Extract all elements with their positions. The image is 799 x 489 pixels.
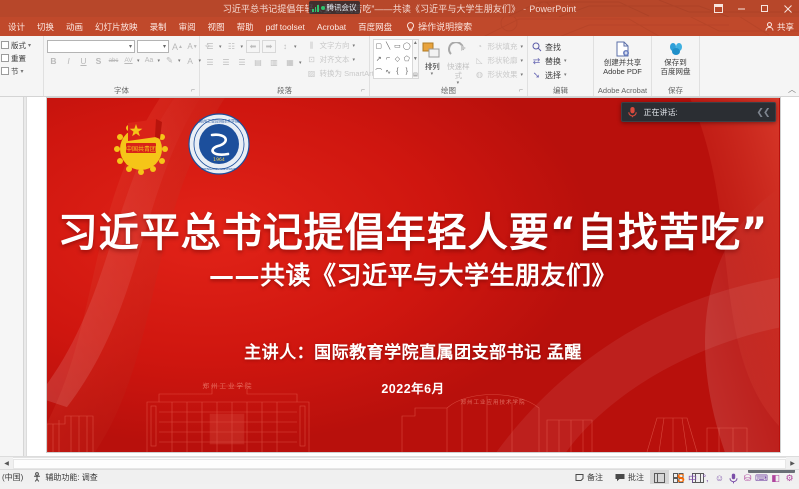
horizontal-scrollbar[interactable]: ◀ ▶ xyxy=(0,456,799,469)
chevron-down-icon[interactable]: ▾ xyxy=(178,58,182,64)
slide-date[interactable]: 2022年6月 xyxy=(47,378,780,397)
decrease-font-size-icon[interactable]: A▼ xyxy=(186,40,199,53)
font-dialog-launcher[interactable]: ⌐ xyxy=(191,86,195,96)
scroll-up-icon[interactable]: ▲ xyxy=(413,40,418,46)
baidu-netdisk-icon xyxy=(668,40,684,58)
slide-title[interactable]: 习近平总书记提倡年轻人要“自找苦吃” xyxy=(47,200,780,258)
ime-keyboard-icon[interactable]: ⌨ xyxy=(756,473,767,484)
line-spacing-icon[interactable]: ↕ xyxy=(278,40,292,53)
svg-text:ZHENGZHOU UNIVERSITY: ZHENGZHOU UNIVERSITY xyxy=(201,167,237,171)
font-name-combo[interactable]: ▾ xyxy=(47,40,135,53)
minimize-icon[interactable] xyxy=(730,0,753,17)
meeting-indicator-label: 腾讯会议 xyxy=(327,2,357,13)
shape-effects-button[interactable]: ◍ 形状效果 ▾ xyxy=(474,68,524,81)
window-controls xyxy=(707,0,799,17)
speaking-status-label: 正在讲话: xyxy=(644,107,678,118)
scroll-down-icon[interactable]: ▼ xyxy=(413,56,418,62)
select-button[interactable]: ➘ 选择 ▾ xyxy=(531,69,568,81)
shape-pentagon-icon[interactable]: ⬠ xyxy=(402,53,411,66)
font-group-label: 字体 ⌐ xyxy=(47,86,196,96)
slide-logos: 中国共青团 1964 郑州工业应用技术学院 xyxy=(112,113,250,175)
shape-effects-label: 形状效果 xyxy=(487,69,517,80)
slides-group-label xyxy=(0,86,40,96)
collapse-ribbon-icon[interactable]: ︿ xyxy=(788,84,796,95)
scroll-left-icon[interactable]: ◀ xyxy=(0,457,13,470)
window-title: 习近平总书记提倡年轻人要“自找苦吃”——共读《习近平与大学生朋友们》-Power… xyxy=(223,2,577,15)
save-to-baidu-button[interactable]: 保存到 百度网盘 xyxy=(655,38,696,76)
align-text-label: 对齐文本 xyxy=(320,54,350,65)
shape-elbow-icon[interactable]: ⌐ xyxy=(383,53,392,66)
smartart-icon: ▨ xyxy=(307,69,317,79)
find-label: 查找 xyxy=(545,42,561,53)
accessibility-icon xyxy=(32,472,42,482)
ime-emoji-icon[interactable]: ☺ xyxy=(714,473,725,484)
shape-fill-button[interactable]: ◔ 形状填充 ▾ xyxy=(474,40,524,53)
shape-fill-icon: ◔ xyxy=(474,42,484,52)
increase-indent-icon[interactable]: ➡ xyxy=(262,40,276,53)
section-button[interactable]: 节 ▾ xyxy=(0,65,40,77)
slide-canvas[interactable]: 中国共青团 1964 郑州工业应用技术学院 xyxy=(46,97,781,453)
search-icon xyxy=(531,42,542,53)
tencent-meeting-title-indicator[interactable]: 腾讯会议 xyxy=(309,1,360,14)
underline-icon[interactable]: U xyxy=(77,54,90,67)
sogou-ime-toolbar[interactable]: S 中 °, ☺ ⛁ ⌨ ◧ ⚙ 1 个新通知 xyxy=(675,471,797,484)
shape-outline-label: 形状轮廓 xyxy=(487,55,517,66)
ribbon-group-paragraph: ☰ ▾ ☷ ▾ ⬅ ➡ ↕ ▾ ☰ ☰ ☰ ▤ ▥ xyxy=(200,36,370,96)
tell-me-label: 操作说明搜索 xyxy=(418,20,472,33)
bold-icon[interactable]: B xyxy=(47,54,60,67)
layout-button[interactable]: 版式 ▾ xyxy=(0,39,40,51)
tab-transitions[interactable]: 切换 xyxy=(31,17,60,36)
scroll-track[interactable] xyxy=(13,457,786,470)
text-direction-icon: ⫼ xyxy=(307,41,317,51)
notification-toast[interactable]: 1 个新通知 xyxy=(748,469,795,473)
shape-line-icon[interactable]: ╲ xyxy=(383,40,392,53)
shape-curve-icon[interactable]: ⌒ xyxy=(374,65,383,78)
close-icon[interactable] xyxy=(776,0,799,17)
bullets-icon[interactable]: ☰ xyxy=(203,40,217,53)
paragraph-group-label: 段落 ⌐ xyxy=(203,86,366,96)
columns-icon[interactable]: ▥ xyxy=(267,56,281,69)
quick-styles-icon xyxy=(448,40,468,62)
arrange-label: 排列 xyxy=(425,62,440,71)
ribbon-group-font: ▾ ▾ A▲ A▼ ✧ B I U S abc AV ▾ xyxy=(44,36,200,96)
signal-bars-icon xyxy=(312,4,319,12)
pdf-share-icon xyxy=(615,40,630,58)
baidu-group-label: 保存 xyxy=(655,86,696,96)
select-label: 选择 xyxy=(545,70,561,81)
powerpoint-window: 习近平总书记提倡年轻人要“自找苦吃”——共读《习近平与大学生朋友们》-Power… xyxy=(0,0,799,489)
tab-view[interactable]: 视图 xyxy=(202,17,231,36)
tell-me-search[interactable]: 操作说明搜索 xyxy=(398,20,472,33)
replace-button[interactable]: ⇄ 替换 ▾ xyxy=(531,55,568,67)
shapes-gallery-scrollbar[interactable]: ▲ ▼ ▤ xyxy=(413,39,420,79)
chevron-down-icon[interactable]: ▾ xyxy=(137,58,141,64)
save-to-baidu-label-1: 保存到 xyxy=(664,58,687,67)
tab-help[interactable]: 帮助 xyxy=(231,17,260,36)
ribbon-group-editing: 查找 ⇄ 替换 ▾ ➘ 选择 ▾ 编辑 xyxy=(528,36,594,96)
svg-text:1964: 1964 xyxy=(213,157,225,163)
save-to-baidu-label-2: 百度网盘 xyxy=(661,67,691,76)
title-bar: 习近平总书记提倡年轻人要“自找苦吃”——共读《习近平与大学生朋友们》-Power… xyxy=(0,0,799,17)
chevron-down-icon[interactable]: ▾ xyxy=(294,44,298,50)
create-share-pdf-label-2: Adobe PDF xyxy=(603,67,642,76)
ime-settings-icon[interactable]: ⚙ xyxy=(784,473,795,484)
shape-oval-icon[interactable]: ◯ xyxy=(402,40,411,53)
decrease-indent-icon[interactable]: ⬅ xyxy=(246,40,260,53)
work-area: 中国共青团 1964 郑州工业应用技术学院 xyxy=(0,97,799,456)
shape-brace-right-icon[interactable]: } xyxy=(402,65,411,78)
section-icon xyxy=(1,67,9,75)
align-text-icon: ⊡ xyxy=(307,55,317,65)
arrange-button[interactable]: 排列 ▾ xyxy=(419,38,445,77)
status-bar: (中国) 辅助功能: 调查 备注 批注 xyxy=(0,469,799,484)
shape-outline-icon: ◺ xyxy=(474,56,484,66)
slide-thumbnail-pane[interactable] xyxy=(0,97,27,456)
justify-icon[interactable]: ▤ xyxy=(251,56,265,69)
layout-icon xyxy=(1,41,9,49)
app-name: PowerPoint xyxy=(529,4,576,14)
chevron-down-icon: ▾ xyxy=(28,42,31,49)
chevron-down-icon: ▾ xyxy=(128,43,133,50)
language-status[interactable]: (中国) xyxy=(2,472,23,483)
chevron-left-double-icon[interactable]: ❮❮ xyxy=(756,107,769,118)
cursor-icon: ➘ xyxy=(531,70,542,81)
chevron-down-icon: ▾ xyxy=(21,68,24,75)
chevron-down-icon: ▾ xyxy=(353,57,357,63)
editing-group-label: 编辑 xyxy=(531,86,590,96)
smartart-label: 转换为 SmartArt xyxy=(320,68,374,79)
ribbon-display-options-icon[interactable] xyxy=(707,0,730,17)
chevron-down-icon: ▾ xyxy=(431,71,435,77)
align-left-icon[interactable]: ☰ xyxy=(203,56,217,69)
ime-punctuation-icon[interactable]: °, xyxy=(700,473,711,484)
text-highlight-icon[interactable]: ✎ xyxy=(163,54,176,67)
scroll-right-icon[interactable]: ▶ xyxy=(786,457,799,470)
chevron-down-icon[interactable]: ▾ xyxy=(241,44,245,50)
align-right-icon[interactable]: ☰ xyxy=(235,56,249,69)
microphone-icon[interactable] xyxy=(627,106,639,118)
ribbon-group-baidu: 保存到 百度网盘 保存 xyxy=(652,36,700,96)
increase-font-size-icon[interactable]: A▲ xyxy=(171,40,184,53)
status-dot-icon xyxy=(321,6,325,10)
font-size-combo[interactable]: ▾ xyxy=(137,40,169,53)
character-spacing-icon[interactable]: AV xyxy=(122,54,135,67)
ribbon-group-slides: 版式 ▾ 重置 节 ▾ xyxy=(0,36,44,96)
arrange-icon xyxy=(422,40,442,62)
chevron-down-icon: ▾ xyxy=(564,72,568,78)
notes-icon xyxy=(575,473,584,482)
numbering-icon[interactable]: ☷ xyxy=(225,40,239,53)
paragraph-dialog-launcher[interactable]: ⌐ xyxy=(361,86,365,96)
tab-acrobat[interactable]: Acrobat xyxy=(311,17,352,36)
tencent-meeting-floating-toolbar[interactable]: 正在讲话: ❮❮ xyxy=(621,102,776,122)
ribbon-group-drawing: ▢ ╲ ▭ ◯ ↗ ⌐ ◇ ⬠ ⌒ ∿ { } ▲ ▼ ▤ xyxy=(370,36,528,96)
text-direction-small-icon[interactable]: ▦ xyxy=(283,56,297,69)
notes-button[interactable]: 备注 xyxy=(569,470,609,484)
tab-pdf-toolset[interactable]: pdf toolset xyxy=(260,17,311,36)
shape-outline-button[interactable]: ◺ 形状轮廓 ▾ xyxy=(474,54,524,67)
shapes-gallery[interactable]: ▢ ╲ ▭ ◯ ↗ ⌐ ◇ ⬠ ⌒ ∿ { } xyxy=(373,39,413,79)
share-label: 共享 xyxy=(777,21,794,33)
slide-editing-area[interactable]: 中国共青团 1964 郑州工业应用技术学院 xyxy=(27,97,799,456)
slide-subtitle[interactable]: ——共读《习近平与大学生朋友们》 xyxy=(47,256,780,292)
tab-slideshow[interactable]: 幻灯片放映 xyxy=(89,17,144,36)
chevron-down-icon: ▾ xyxy=(162,43,167,50)
text-direction-label: 文字方向 xyxy=(320,40,350,51)
chevron-down-icon: ▾ xyxy=(520,58,524,64)
chevron-down-icon[interactable]: ▾ xyxy=(219,44,223,50)
quick-styles-button[interactable]: 快速样式 ▾ xyxy=(445,38,471,86)
communist-youth-league-emblem: 中国共青团 xyxy=(112,113,174,175)
tab-baidu-netdisk[interactable]: 百度网盘 xyxy=(352,17,398,36)
shape-brace-left-icon[interactable]: { xyxy=(393,65,402,78)
strikethrough-icon[interactable]: abc xyxy=(107,54,120,67)
create-share-pdf-label-1: 创建并共享 xyxy=(604,58,642,67)
pane-splitter[interactable] xyxy=(23,97,26,456)
chevron-down-icon[interactable]: ▾ xyxy=(299,60,303,66)
chevron-down-icon: ▾ xyxy=(520,72,524,78)
tab-design[interactable]: 设计 xyxy=(2,17,31,36)
window-title-text: 习近平总书记提倡年轻人要“自找苦吃”——共读《习近平与大学生朋友们》 xyxy=(223,4,520,14)
comment-bubble-icon xyxy=(615,473,625,482)
italic-icon[interactable]: I xyxy=(62,54,75,67)
ime-toolbox-icon[interactable]: ⛁ xyxy=(742,473,753,484)
text-shadow-icon[interactable]: S xyxy=(92,54,105,67)
layout-label: 版式 xyxy=(11,40,26,51)
sogou-logo-icon[interactable]: S xyxy=(677,472,685,485)
ime-voice-input-icon[interactable] xyxy=(728,473,739,484)
tab-recording[interactable]: 录制 xyxy=(144,17,173,36)
ribbon-tab-bar: 设计 切换 动画 幻灯片放映 录制 审阅 视图 帮助 pdf toolset A… xyxy=(0,17,799,36)
person-icon xyxy=(765,22,774,31)
university-seal-logo: 1964 郑州工业应用技术学院 ZHENGZHOU UNIVERSITY xyxy=(188,113,250,175)
lightbulb-icon xyxy=(406,22,415,32)
svg-text:中国共青团: 中国共青团 xyxy=(125,145,155,153)
replace-label: 替换 xyxy=(545,56,561,67)
shape-effects-icon: ◍ xyxy=(474,70,484,80)
drawing-group-label: 绘图 ⌐ xyxy=(373,86,524,96)
shape-freeform-icon[interactable]: ∿ xyxy=(383,65,392,78)
reset-button[interactable]: 重置 xyxy=(0,52,40,64)
restore-icon[interactable] xyxy=(753,0,776,17)
gallery-more-icon[interactable]: ▤ xyxy=(413,72,418,78)
scroll-thumb[interactable] xyxy=(13,459,786,469)
accessibility-status[interactable]: 辅助功能: 调查 xyxy=(32,472,97,483)
comments-label: 批注 xyxy=(628,472,644,483)
ime-mode-chinese-icon[interactable]: 中 xyxy=(688,472,697,485)
svg-text:郑州工业应用技术学院: 郑州工业应用技术学院 xyxy=(199,118,239,124)
ime-skin-icon[interactable]: ◧ xyxy=(770,473,781,484)
change-case-icon[interactable]: Aa xyxy=(143,54,156,67)
slide-speaker[interactable]: 主讲人：国际教育学院直属团支部书记 孟醒 xyxy=(47,338,780,363)
chevron-down-icon: ▾ xyxy=(520,44,524,50)
title-separator: - xyxy=(520,4,529,14)
quick-styles-label: 快速样式 xyxy=(445,62,471,80)
chevron-down-icon[interactable]: ▾ xyxy=(158,58,162,64)
shape-arrow-icon[interactable]: ↗ xyxy=(374,53,383,66)
reset-icon xyxy=(1,54,9,62)
find-button[interactable]: 查找 xyxy=(531,41,568,53)
share-button[interactable]: 共享 xyxy=(765,17,794,36)
ribbon: 版式 ▾ 重置 节 ▾ xyxy=(0,36,799,97)
shape-rect-icon[interactable]: ▭ xyxy=(393,40,402,53)
font-color-icon[interactable]: A xyxy=(184,54,197,67)
align-center-icon[interactable]: ☰ xyxy=(219,56,233,69)
accessibility-label: 辅助功能: 调查 xyxy=(45,472,97,483)
gate-name-text: 郑州工业应用技术学院 xyxy=(460,398,525,406)
reset-label: 重置 xyxy=(11,53,26,64)
shape-diamond-icon[interactable]: ◇ xyxy=(393,53,402,66)
shape-fill-label: 形状填充 xyxy=(487,41,517,52)
create-share-pdf-button[interactable]: 创建并共享 Adobe PDF xyxy=(597,38,648,76)
chevron-down-icon: ▾ xyxy=(564,58,568,64)
section-label: 节 xyxy=(11,66,19,77)
tab-review[interactable]: 审阅 xyxy=(173,17,202,36)
ribbon-group-acrobat: 创建并共享 Adobe PDF Adobe Acrobat xyxy=(594,36,652,96)
comments-button[interactable]: 批注 xyxy=(609,470,650,484)
drawing-dialog-launcher[interactable]: ⌐ xyxy=(519,86,523,96)
shape-rect-rounded-icon[interactable]: ▢ xyxy=(374,40,383,53)
notes-label: 备注 xyxy=(587,472,603,483)
replace-icon: ⇄ xyxy=(531,56,542,67)
chevron-down-icon: ▾ xyxy=(353,43,357,49)
acrobat-group-label: Adobe Acrobat xyxy=(597,86,648,96)
tabbar-decoration xyxy=(479,17,799,36)
view-normal-button[interactable] xyxy=(650,470,669,484)
tab-animations[interactable]: 动画 xyxy=(60,17,89,36)
